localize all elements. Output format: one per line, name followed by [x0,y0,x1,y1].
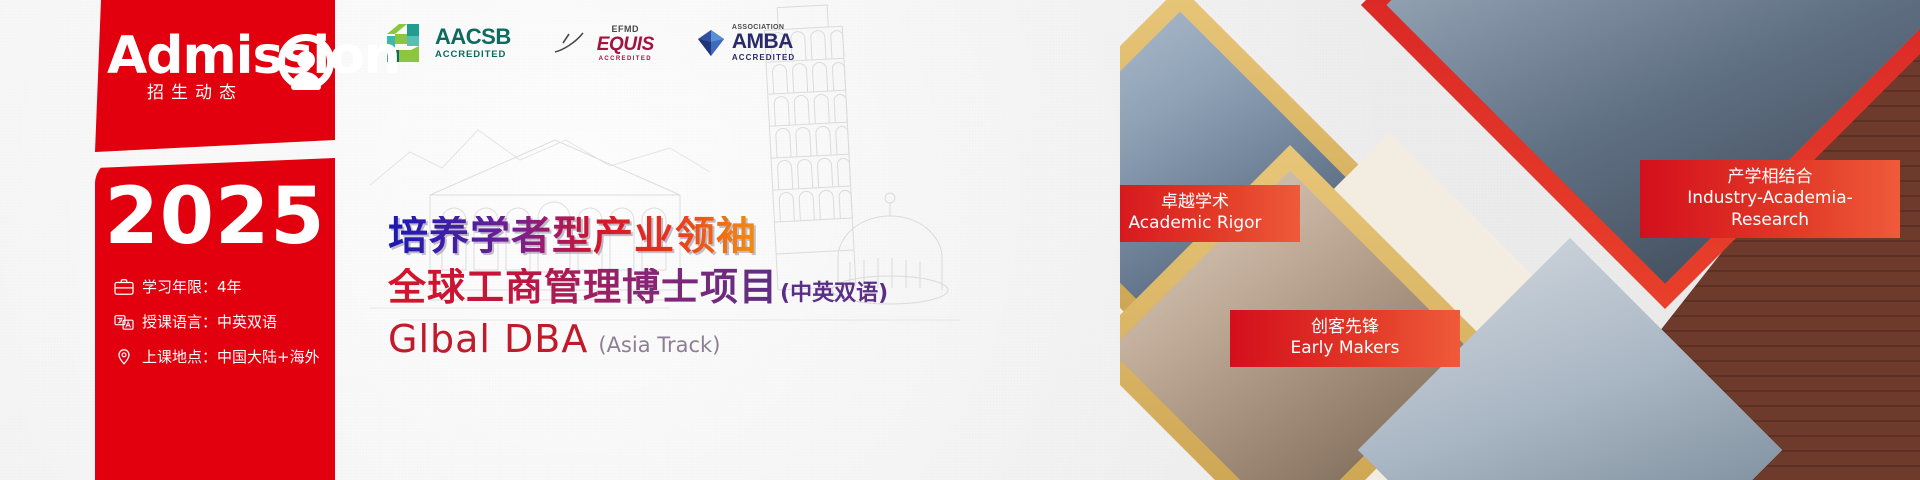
equis-status: ACCREDITED [599,56,652,62]
label-industry-cn: 产学相结合 [1654,167,1886,188]
language-icon [113,313,135,331]
info-row-duration: 学习年限：4年 [113,276,335,297]
label-early-makers-en: Early Makers [1244,338,1446,359]
label-early-makers: 创客先锋 Early Makers [1230,310,1460,367]
headline-block: 培养学者型产业领袖 全球工商管理博士项目 (中英双语) Glbal DBA (A… [388,216,888,361]
amba-logo: ASSOCIATION AMBA ACCREDITED [696,24,795,62]
info-language-label: 授课语言：中英双语 [142,311,277,332]
amba-name: AMBA [732,31,795,52]
label-industry-en-1: Industry-Academia- [1654,188,1886,209]
label-academic-cn: 卓越学术 [1120,192,1286,213]
left-red-panel: Admission 招生动态 2025 学习年限：4年 [95,0,335,480]
program-title-en-main: Glbal DBA [388,317,588,361]
feature-collage: 产学相结合 Industry-Academia- Research 卓越学术 A… [1120,0,1920,480]
year-label: 2025 [95,178,335,256]
program-title-en: Glbal DBA (Asia Track) [388,317,888,361]
aacsb-status: ACCREDITED [435,50,511,60]
location-pin-icon [113,348,135,366]
info-duration-label: 学习年限：4年 [142,276,242,297]
program-info-list: 学习年限：4年 授课语言：中英双语 上课地点：中国大陆+海外 [113,276,335,381]
info-row-location: 上课地点：中国大陆+海外 [113,346,335,367]
label-industry-academia: 产学相结合 Industry-Academia- Research [1640,160,1900,238]
program-title-cn-main: 全球工商管理博士项目 [388,268,778,306]
label-academic-en: Academic Rigor [1120,213,1286,234]
amba-status: ACCREDITED [732,54,795,62]
admission-logo-text: Admission [107,30,400,82]
admission-logo-cn: 招生动态 [147,78,243,103]
program-title-cn: 全球工商管理博士项目 (中英双语) [388,268,888,307]
tagline: 培养学者型产业领袖 [388,216,888,256]
accreditation-logos: AACSB ACCREDITED EFMD EQUIS ACCREDITED [385,22,795,64]
info-location-label: 上课地点：中国大陆+海外 [142,346,320,367]
info-row-language: 授课语言：中英双语 [113,311,335,332]
admission-logo: Admission 招生动态 [105,28,335,118]
aacsb-logo: AACSB ACCREDITED [385,22,511,64]
briefcase-icon [113,278,135,296]
label-early-makers-cn: 创客先锋 [1244,317,1446,338]
program-title-cn-paren: (中英双语) [780,275,888,307]
label-industry-en-2: Research [1654,210,1886,231]
person-circle-icon [278,34,334,90]
efmd-label: EFMD [612,25,640,34]
program-title-en-paren: (Asia Track) [598,333,720,357]
label-academic-rigor: 卓越学术 Academic Rigor [1120,185,1300,242]
efmd-swoosh-icon [553,30,593,56]
admission-banner: Admission 招生动态 2025 学习年限：4年 [0,0,1920,480]
equis-logo: EFMD EQUIS ACCREDITED [553,25,654,62]
aacsb-name: AACSB [435,26,511,48]
equis-name: EQUIS [597,35,654,54]
amba-diamond-icon [696,28,726,58]
